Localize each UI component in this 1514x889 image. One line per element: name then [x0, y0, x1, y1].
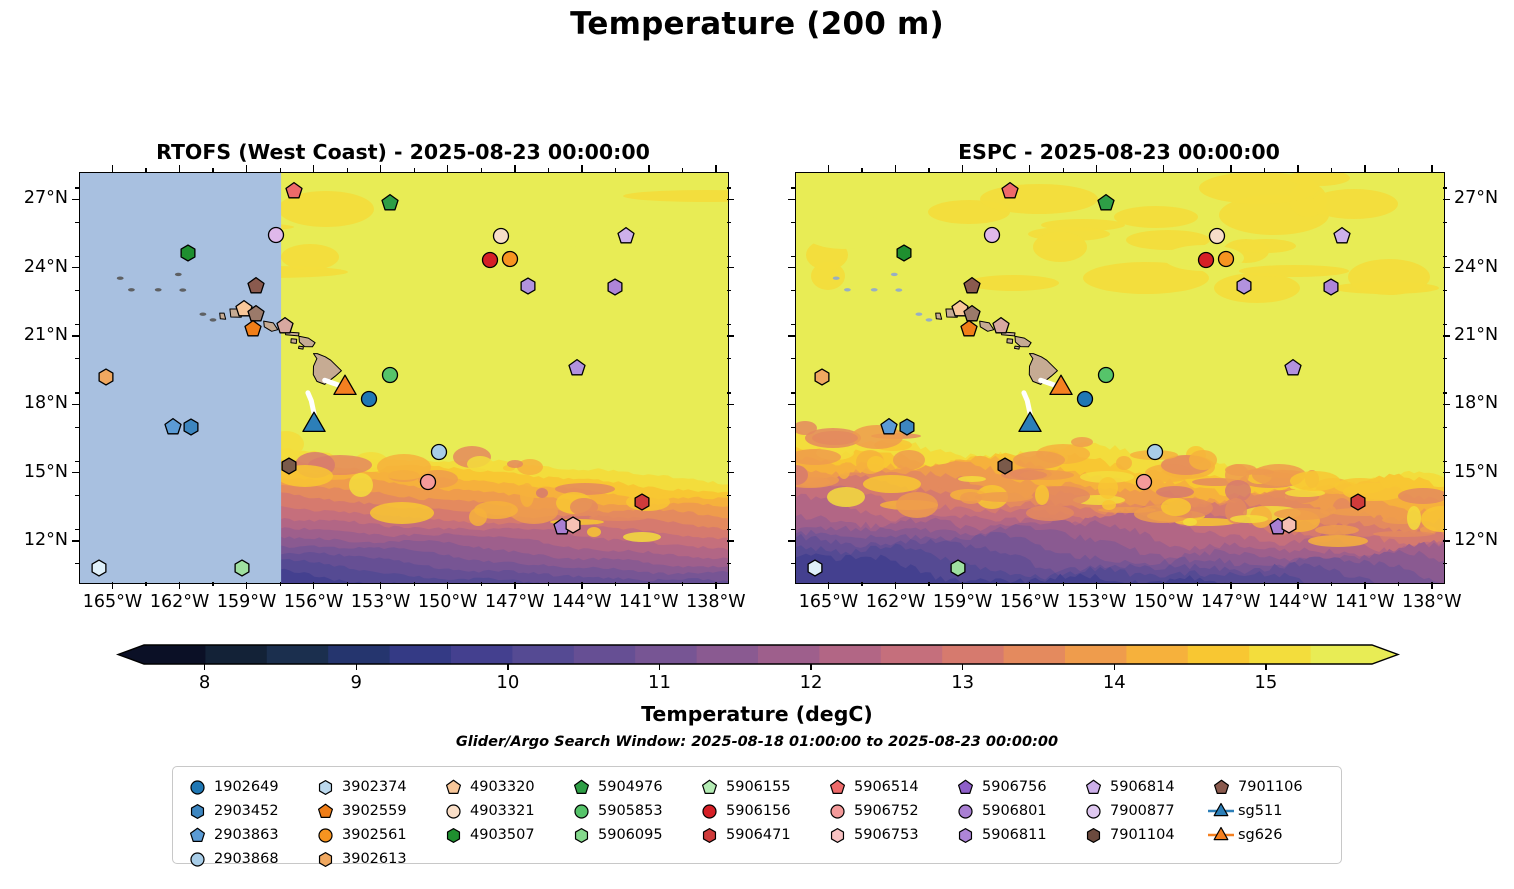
- circle-marker-icon: [695, 802, 723, 821]
- circle-marker-icon: [567, 802, 595, 821]
- legend-item-3902613[interactable]: 3902613: [311, 847, 439, 871]
- legend-label: 5906471: [723, 827, 791, 843]
- colorbar-tick: [1265, 664, 1266, 670]
- legend-label: sg626: [1235, 827, 1282, 843]
- circle-marker-icon: [439, 802, 467, 821]
- pentagon-marker-icon: [1207, 778, 1235, 797]
- legend-item-5906756[interactable]: 5906756: [951, 775, 1079, 799]
- legend-label: 5906155: [723, 779, 791, 795]
- legend-column-5: 590615559061565906471: [695, 775, 823, 847]
- legend-item-5906095[interactable]: 5906095: [567, 823, 695, 847]
- pentagon-marker-icon: [311, 802, 339, 821]
- colorbar-tick-label: 13: [951, 672, 974, 693]
- legend-item-5906752[interactable]: 5906752: [823, 799, 951, 823]
- legend-item-7901104[interactable]: 7901104: [1079, 823, 1207, 847]
- legend-label: 5906752: [851, 803, 919, 819]
- colorbar-tick-label: 10: [496, 672, 519, 693]
- colorbar-tick: [507, 664, 508, 670]
- hexagon-marker-icon: [1079, 826, 1107, 845]
- colorbar: 89101112131415: [0, 0, 1514, 120]
- colorbar-tick-label: 14: [1103, 672, 1126, 693]
- circle-marker-icon: [823, 802, 851, 821]
- legend-label: 5906156: [723, 803, 791, 819]
- legend-item-2903868[interactable]: 2903868: [183, 847, 311, 871]
- hexagon-marker-icon: [183, 802, 211, 821]
- legend-label: 5906814: [1107, 779, 1175, 795]
- legend-label: 3902613: [339, 851, 407, 867]
- hexagon-marker-icon: [311, 778, 339, 797]
- legend-label: 5904976: [595, 779, 663, 795]
- colorbar-tick-label: 15: [1254, 672, 1277, 693]
- pentagon-marker-icon: [183, 826, 211, 845]
- legend-label: 5906095: [595, 827, 663, 843]
- legend-label: 5906753: [851, 827, 919, 843]
- circle-marker-icon: [311, 826, 339, 845]
- legend-label: 2903452: [211, 803, 279, 819]
- hexagon-marker-icon: [695, 826, 723, 845]
- glider-marker-icon: [1207, 802, 1235, 820]
- legend-label: 3902561: [339, 827, 407, 843]
- pentagon-marker-icon: [695, 778, 723, 797]
- legend-item-sg626[interactable]: sg626: [1207, 823, 1331, 847]
- colorbar-gradient: [0, 0, 1514, 760]
- legend-label: 3902559: [339, 803, 407, 819]
- legend-item-3902374[interactable]: 3902374: [311, 775, 439, 799]
- hexagon-marker-icon: [567, 826, 595, 845]
- legend-label: 7901106: [1235, 779, 1303, 795]
- legend-label: sg511: [1235, 803, 1282, 819]
- legend-item-5906801[interactable]: 5906801: [951, 799, 1079, 823]
- legend-item-5906514[interactable]: 5906514: [823, 775, 951, 799]
- colorbar-tick-label: 11: [648, 672, 671, 693]
- colorbar-tick: [204, 664, 205, 670]
- legend-item-5906753[interactable]: 5906753: [823, 823, 951, 847]
- legend-item-7900877[interactable]: 7900877: [1079, 799, 1207, 823]
- legend-item-3902559[interactable]: 3902559: [311, 799, 439, 823]
- legend-label: 1902649: [211, 779, 279, 795]
- legend-column-1: 1902649290345229038632903868: [183, 775, 311, 871]
- circle-marker-icon: [183, 778, 211, 797]
- legend-label: 2903863: [211, 827, 279, 843]
- legend-column-4: 590497659058535906095: [567, 775, 695, 847]
- legend-column-7: 590675659068015906811: [951, 775, 1079, 847]
- legend-item-3902561[interactable]: 3902561: [311, 823, 439, 847]
- colorbar-tick-label: 9: [351, 672, 362, 693]
- legend-item-5906814[interactable]: 5906814: [1079, 775, 1207, 799]
- search-window-caption: Glider/Argo Search Window: 2025-08-18 01…: [0, 734, 1514, 750]
- pentagon-marker-icon: [823, 778, 851, 797]
- legend-label: 5906756: [979, 779, 1047, 795]
- circle-marker-icon: [1079, 802, 1107, 821]
- legend-label: 5906801: [979, 803, 1047, 819]
- legend-column-9: 7901106 sg511 sg626: [1207, 775, 1331, 847]
- legend-label: 2903868: [211, 851, 279, 867]
- legend-column-8: 590681479008777901104: [1079, 775, 1207, 847]
- circle-marker-icon: [951, 802, 979, 821]
- pentagon-marker-icon: [1079, 778, 1107, 797]
- hexagon-marker-icon: [439, 826, 467, 845]
- legend-item-5906155[interactable]: 5906155: [695, 775, 823, 799]
- legend-item-5906156[interactable]: 5906156: [695, 799, 823, 823]
- legend-item-2903863[interactable]: 2903863: [183, 823, 311, 847]
- colorbar-tick: [659, 664, 660, 670]
- legend-box: 1902649290345229038632903868390237439025…: [172, 766, 1342, 864]
- legend-label: 5905853: [595, 803, 663, 819]
- colorbar-tick-label: 12: [800, 672, 823, 693]
- figure-canvas: Temperature (200 m) RTOFS (West Coast) -…: [0, 0, 1514, 889]
- legend-column-6: 590651459067525906753: [823, 775, 951, 847]
- circle-marker-icon: [183, 850, 211, 869]
- legend-item-4903320[interactable]: 4903320: [439, 775, 567, 799]
- legend-item-5904976[interactable]: 5904976: [567, 775, 695, 799]
- pentagon-marker-icon: [439, 778, 467, 797]
- legend-item-5906471[interactable]: 5906471: [695, 823, 823, 847]
- legend-item-2903452[interactable]: 2903452: [183, 799, 311, 823]
- colorbar-tick: [356, 664, 357, 670]
- legend-label: 7901104: [1107, 827, 1175, 843]
- colorbar-tick: [810, 664, 811, 670]
- legend-item-5905853[interactable]: 5905853: [567, 799, 695, 823]
- glider-marker-icon: [1207, 826, 1235, 844]
- legend-grid: 1902649290345229038632903868390237439025…: [183, 775, 1331, 871]
- legend-label: 4903507: [467, 827, 535, 843]
- hexagon-marker-icon: [311, 850, 339, 869]
- legend-label: 7900877: [1107, 803, 1175, 819]
- colorbar-title: Temperature (degC): [0, 702, 1514, 726]
- legend-item-7901106[interactable]: 7901106: [1207, 775, 1331, 799]
- colorbar-tick: [962, 664, 963, 670]
- pentagon-marker-icon: [951, 778, 979, 797]
- pentagon-marker-icon: [567, 778, 595, 797]
- legend-label: 5906811: [979, 827, 1047, 843]
- colorbar-tick: [1114, 664, 1115, 670]
- legend-item-sg511[interactable]: sg511: [1207, 799, 1331, 823]
- legend-item-4903507[interactable]: 4903507: [439, 823, 567, 847]
- legend-label: 4903321: [467, 803, 535, 819]
- hexagon-marker-icon: [951, 826, 979, 845]
- legend-item-1902649[interactable]: 1902649: [183, 775, 311, 799]
- legend-item-5906811[interactable]: 5906811: [951, 823, 1079, 847]
- colorbar-tick-label: 8: [199, 672, 210, 693]
- legend-item-4903321[interactable]: 4903321: [439, 799, 567, 823]
- legend-label: 3902374: [339, 779, 407, 795]
- legend-column-3: 490332049033214903507: [439, 775, 567, 847]
- legend-label: 5906514: [851, 779, 919, 795]
- legend-label: 4903320: [467, 779, 535, 795]
- hexagon-marker-icon: [823, 826, 851, 845]
- legend-column-2: 3902374390255939025613902613: [311, 775, 439, 871]
